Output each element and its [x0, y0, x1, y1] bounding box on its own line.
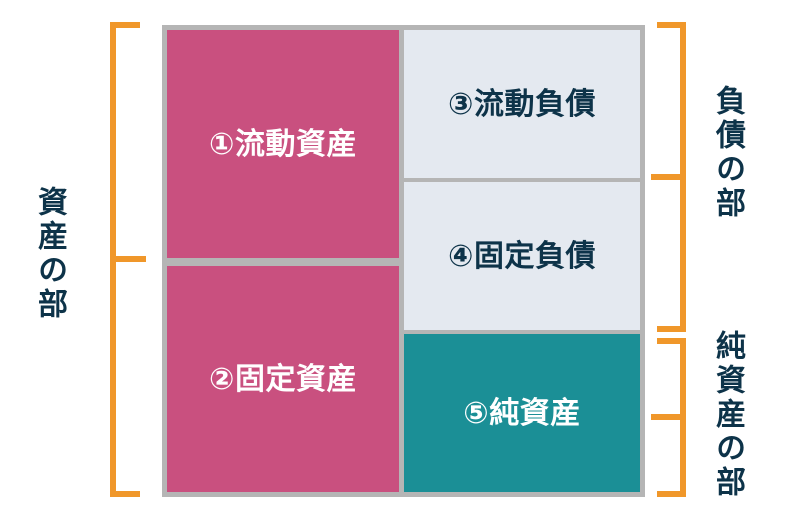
- cell-net-assets: ⑤純資産: [404, 334, 640, 492]
- cell-current-liabilities: ③流動負債: [404, 30, 640, 178]
- bracket-assets-arm-top: [110, 22, 140, 28]
- bracket-net-assets-arm-top: [657, 338, 686, 344]
- cell-fixed-liabilities: ④固定負債: [404, 182, 640, 330]
- side-label-liabilities: 負債の部: [712, 85, 742, 221]
- bracket-liabilities-arm-middle: [651, 174, 686, 180]
- balance-sheet-diagram: 資産の部 ①流動資産 ②固定資産 ③流動負債 ④固定負債 ⑤純資産 負債の部 純…: [0, 0, 800, 520]
- bracket-net-assets-arm-bottom: [657, 491, 686, 497]
- bracket-net-assets-arm-middle: [651, 414, 686, 420]
- bracket-liabilities-arm-top: [657, 22, 686, 28]
- bracket-assets-arm-middle: [110, 256, 146, 262]
- bracket-net-assets: [651, 338, 686, 497]
- balance-sheet-frame: ①流動資産 ②固定資産 ③流動負債 ④固定負債 ⑤純資産: [162, 25, 645, 497]
- bracket-assets: [110, 22, 146, 497]
- bracket-liabilities: [651, 22, 686, 332]
- cell-fixed-assets: ②固定資産: [167, 266, 399, 492]
- bracket-liabilities-arm-bottom: [657, 326, 686, 332]
- side-label-net-assets: 純資産の部: [712, 330, 742, 500]
- side-label-assets: 資産の部: [34, 186, 64, 322]
- bracket-assets-arm-bottom: [110, 491, 140, 497]
- cell-current-assets: ①流動資産: [167, 30, 399, 258]
